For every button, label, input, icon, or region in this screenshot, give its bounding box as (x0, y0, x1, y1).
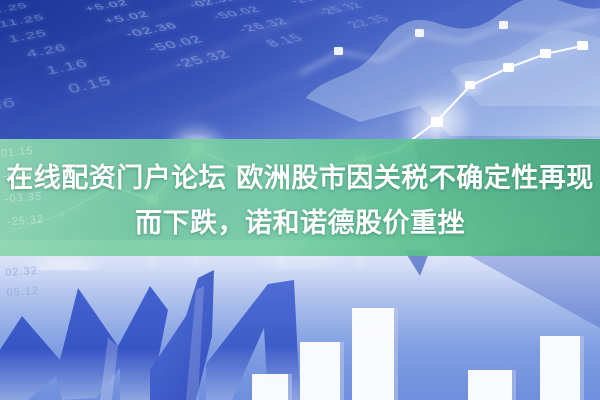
lower-ticker-value: 05.12 (6, 281, 40, 303)
banner-title-line-1: 在线配资门户论坛 欧洲股市因关税不确定性再现 (6, 156, 593, 195)
banner-title-line-2: 而下跌，诺和诺德股价重挫 (135, 201, 465, 240)
lower-ticker-value: 02.32 (5, 261, 39, 283)
lower-ticker-numbers: 02.32 05.12 (5, 261, 40, 303)
news-banner-image: -02.36-11.25+5.0221.0245.02-29.35-11.25+… (0, 0, 600, 400)
white-bar-chart (0, 250, 600, 400)
banner-title: 在线配资门户论坛 欧洲股市因关税不确定性再现 而下跌，诺和诺德股价重挫 (0, 139, 600, 256)
